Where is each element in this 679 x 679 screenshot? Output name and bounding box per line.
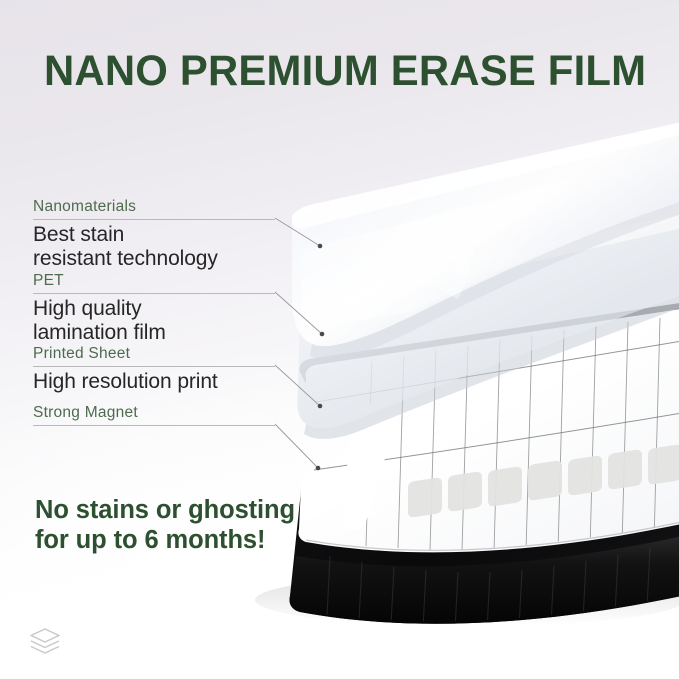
- leader-dot-strong-magnet: [316, 466, 321, 471]
- stacked-layers-logo: [28, 626, 62, 656]
- infographic-canvas: NANO PREMIUM ERASE FILM Nanomaterials Be…: [0, 0, 679, 679]
- leader-dot-nanomaterials: [318, 244, 323, 249]
- leader-line-nanomaterials: [275, 218, 320, 246]
- leader-line-printed-sheet: [275, 365, 320, 406]
- callout-leader-lines: [0, 0, 679, 679]
- leader-dot-pet: [320, 332, 325, 337]
- leader-line-strong-magnet: [275, 424, 318, 468]
- leader-line-pet: [275, 292, 322, 334]
- leader-dot-printed-sheet: [318, 404, 323, 409]
